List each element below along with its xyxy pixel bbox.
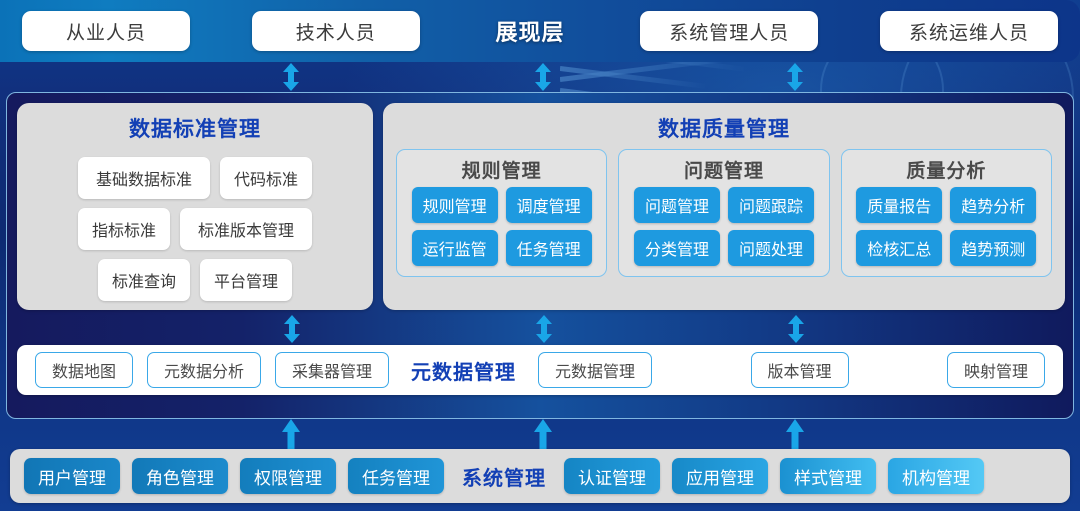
data-quality-groups: 规则管理 规则管理 调度管理 运行监管 任务管理 问题管理 问题管理 问题跟踪 … — [383, 143, 1065, 277]
q1-btn-3[interactable]: 问题处理 — [728, 230, 814, 266]
up-arrow-icon — [786, 419, 804, 449]
sys-btn-r2[interactable]: 样式管理 — [780, 458, 876, 494]
system-row-title: 系统管理 — [456, 462, 552, 491]
role-pill-2[interactable]: 系统管理人员 — [640, 11, 818, 51]
double-arrow-icon — [284, 315, 300, 343]
std-chip-3[interactable]: 标准版本管理 — [180, 208, 312, 250]
q0-btn-1[interactable]: 调度管理 — [506, 187, 592, 223]
role-pill-0[interactable]: 从业人员 — [22, 11, 190, 51]
sys-btn-l3[interactable]: 任务管理 — [348, 458, 444, 494]
q2-btn-3[interactable]: 趋势预测 — [950, 230, 1036, 266]
sys-btn-l0[interactable]: 用户管理 — [24, 458, 120, 494]
role-pill-1[interactable]: 技术人员 — [252, 11, 420, 51]
q0-btn-2[interactable]: 运行监管 — [412, 230, 498, 266]
data-standard-title: 数据标准管理 — [17, 103, 373, 143]
quality-group-title-1: 问题管理 — [619, 150, 828, 187]
double-arrow-icon — [535, 63, 551, 91]
data-quality-title: 数据质量管理 — [383, 103, 1065, 143]
double-arrow-icon — [788, 315, 804, 343]
connector-row-top — [0, 63, 1080, 93]
meta-btn-r0[interactable]: 元数据管理 — [538, 352, 652, 388]
double-arrow-icon — [787, 63, 803, 91]
sys-btn-r3[interactable]: 机构管理 — [888, 458, 984, 494]
metadata-row-title: 元数据管理 — [403, 356, 524, 385]
meta-btn-l2[interactable]: 采集器管理 — [275, 352, 389, 388]
std-chip-5[interactable]: 平台管理 — [200, 259, 292, 301]
q0-btn-3[interactable]: 任务管理 — [506, 230, 592, 266]
q2-btn-2[interactable]: 检核汇总 — [856, 230, 942, 266]
sys-btn-l2[interactable]: 权限管理 — [240, 458, 336, 494]
double-arrow-icon — [283, 63, 299, 91]
q2-btn-1[interactable]: 趋势分析 — [950, 187, 1036, 223]
q1-btn-2[interactable]: 分类管理 — [634, 230, 720, 266]
quality-group-items-0: 规则管理 调度管理 运行监管 任务管理 — [397, 187, 606, 266]
quality-group-rules: 规则管理 规则管理 调度管理 运行监管 任务管理 — [396, 149, 607, 277]
quality-group-analysis: 质量分析 质量报告 趋势分析 检核汇总 趋势预测 — [841, 149, 1052, 277]
sys-btn-l1[interactable]: 角色管理 — [132, 458, 228, 494]
architecture-diagram: 从业人员 技术人员 展现层 系统管理人员 系统运维人员 数据标准管理 基础数据标… — [0, 0, 1080, 511]
double-arrow-icon — [536, 315, 552, 343]
connector-row-bottom — [0, 419, 1080, 449]
quality-group-items-1: 问题管理 问题跟踪 分类管理 问题处理 — [619, 187, 828, 266]
up-arrow-icon — [534, 419, 552, 449]
meta-btn-l1[interactable]: 元数据分析 — [147, 352, 261, 388]
quality-group-issues: 问题管理 问题管理 问题跟踪 分类管理 问题处理 — [618, 149, 829, 277]
std-chip-4[interactable]: 标准查询 — [98, 259, 190, 301]
data-quality-panel: 数据质量管理 规则管理 规则管理 调度管理 运行监管 任务管理 问题管理 问题管… — [383, 103, 1065, 310]
system-management-row: 用户管理 角色管理 权限管理 任务管理 系统管理 认证管理 应用管理 样式管理 … — [10, 449, 1070, 503]
q0-btn-0[interactable]: 规则管理 — [412, 187, 498, 223]
up-arrow-icon — [282, 419, 300, 449]
q2-btn-0[interactable]: 质量报告 — [856, 187, 942, 223]
data-standard-panel: 数据标准管理 基础数据标准 代码标准 指标标准 标准版本管理 标准查询 平台管理 — [17, 103, 373, 310]
quality-group-items-2: 质量报告 趋势分析 检核汇总 趋势预测 — [842, 187, 1051, 266]
quality-group-title-0: 规则管理 — [397, 150, 606, 187]
sys-btn-r1[interactable]: 应用管理 — [672, 458, 768, 494]
presentation-layer-header: 从业人员 技术人员 展现层 系统管理人员 系统运维人员 — [0, 0, 1080, 62]
std-chip-0[interactable]: 基础数据标准 — [78, 157, 210, 199]
meta-btn-r2[interactable]: 映射管理 — [947, 352, 1045, 388]
std-chip-1[interactable]: 代码标准 — [220, 157, 312, 199]
metadata-row: 数据地图 元数据分析 采集器管理 元数据管理 元数据管理 版本管理 映射管理 — [17, 345, 1063, 395]
governance-container: 数据标准管理 基础数据标准 代码标准 指标标准 标准版本管理 标准查询 平台管理… — [6, 92, 1074, 419]
data-standard-items: 基础数据标准 代码标准 指标标准 标准版本管理 标准查询 平台管理 — [17, 143, 373, 301]
connector-row-middle — [1, 315, 1080, 345]
role-pill-3[interactable]: 系统运维人员 — [880, 11, 1058, 51]
q1-btn-0[interactable]: 问题管理 — [634, 187, 720, 223]
quality-group-title-2: 质量分析 — [842, 150, 1051, 187]
q1-btn-1[interactable]: 问题跟踪 — [728, 187, 814, 223]
sys-btn-r0[interactable]: 认证管理 — [564, 458, 660, 494]
meta-btn-l0[interactable]: 数据地图 — [35, 352, 133, 388]
std-chip-2[interactable]: 指标标准 — [78, 208, 170, 250]
meta-btn-r1[interactable]: 版本管理 — [751, 352, 849, 388]
layer-title-presentation: 展现层 — [481, 15, 578, 47]
